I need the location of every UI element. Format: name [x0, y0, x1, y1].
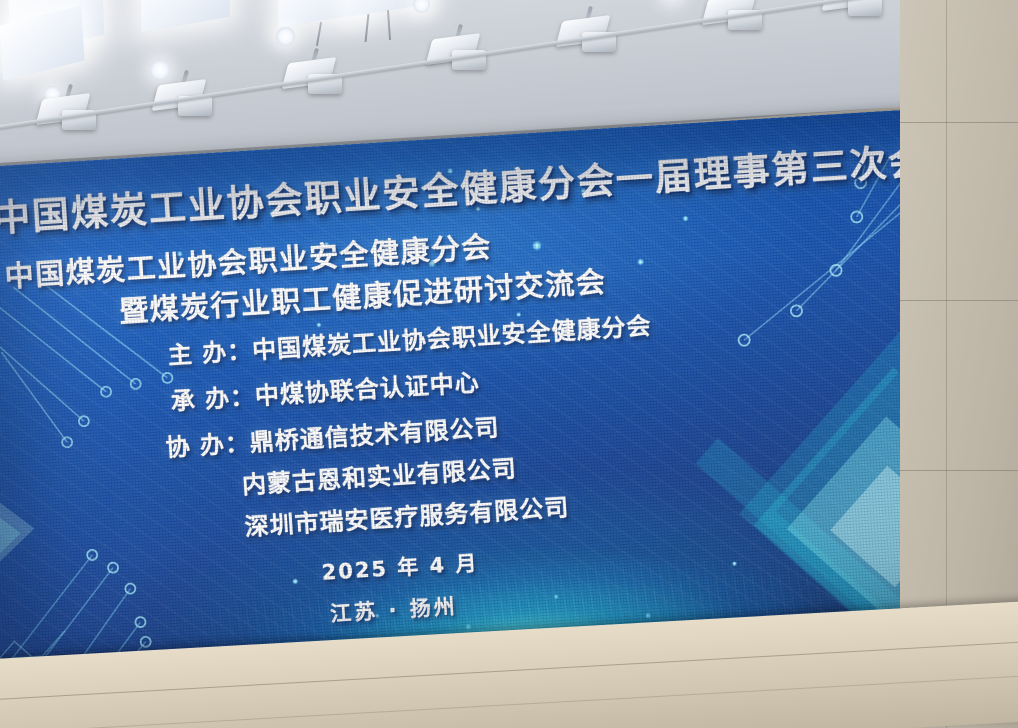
- screenshot-root: 中国煤炭工业协会职业安全健康分会一届理事第三次会议 中国煤炭工业协会职业安全健康…: [0, 0, 1018, 728]
- ceiling-hanger: [387, 10, 391, 40]
- recessed-downlight: [413, 0, 430, 13]
- banner-location: 江苏 · 扬州: [329, 590, 458, 628]
- recessed-downlight: [150, 60, 170, 80]
- credit-coorganizer-name: 鼎桥通信技术有限公司: [249, 413, 500, 456]
- credit-organizer-role: 承 办：: [170, 383, 256, 416]
- credit-coorganizer-role: 协 办：: [165, 429, 251, 462]
- wall-seam: [900, 470, 1018, 471]
- banner-date: 2025 年 4 月: [321, 547, 480, 587]
- conference-hall-room: 中国煤炭工业协会职业安全健康分会一届理事第三次会议 中国煤炭工业协会职业安全健康…: [0, 0, 1018, 728]
- spotlight-body: [848, 0, 882, 16]
- ceiling-hanger: [316, 22, 322, 46]
- ceiling-hanger: [365, 14, 370, 42]
- wall-seam: [900, 122, 1018, 123]
- recessed-downlight: [276, 27, 295, 46]
- credit-organizer-name: 中煤协联合认证中心: [254, 369, 480, 411]
- wall-seam: [900, 300, 1018, 301]
- ledge-seam: [0, 671, 1018, 728]
- skylight: [141, 0, 230, 32]
- credit-organizer: 承 办：中煤协联合认证中心: [170, 363, 481, 417]
- recessed-downlight: [663, 0, 681, 2]
- credit-host-role: 主 办：: [167, 337, 253, 370]
- credit-host-name: 中国煤炭工业协会职业安全健康分会: [251, 312, 652, 365]
